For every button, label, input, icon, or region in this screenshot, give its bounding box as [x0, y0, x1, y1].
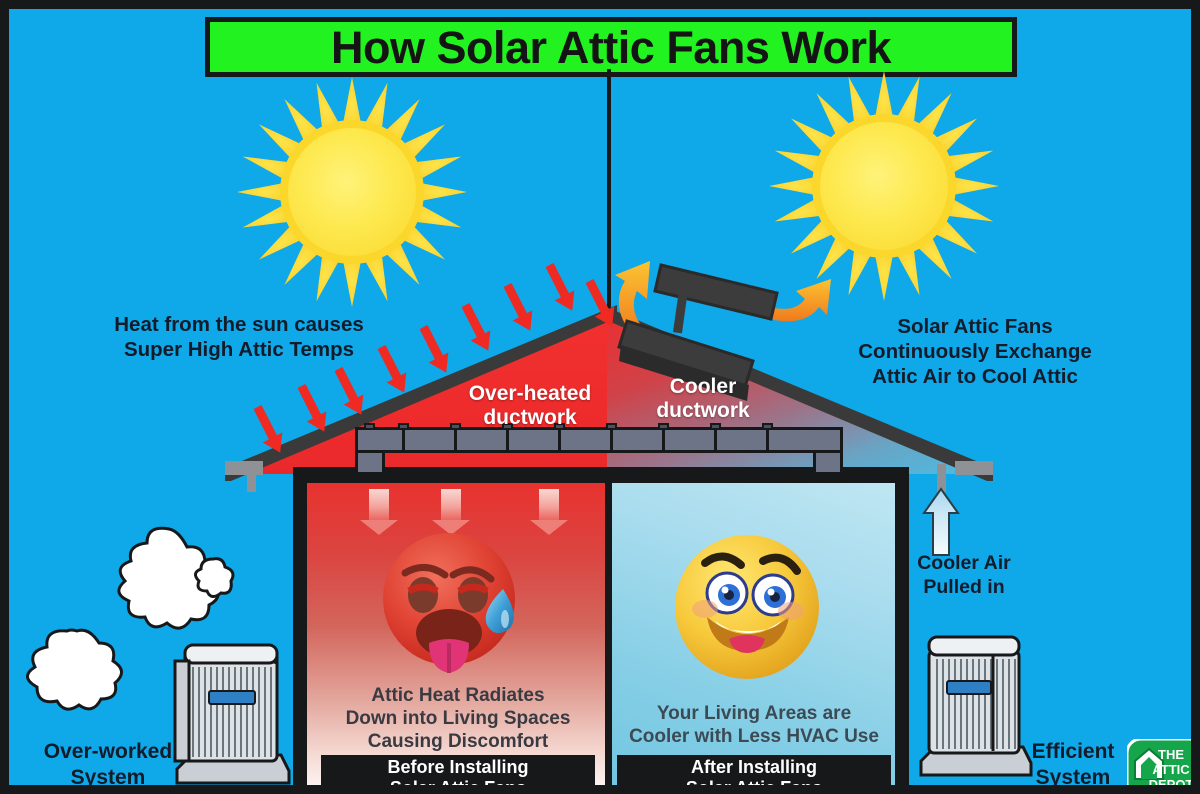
overworked-system-label: Over-worked System	[19, 739, 197, 790]
after-banner-line-2: Solar Attic Fans	[686, 778, 822, 794]
radiating-heat-arrow-icon	[441, 489, 461, 521]
red-down-arrow-icon	[253, 405, 277, 441]
smiling-face-emoji	[671, 531, 823, 688]
left-panel-caption: Attic Heat Radiates Down into Living Spa…	[327, 685, 589, 753]
red-down-arrow-icon	[334, 367, 358, 403]
left-headline-line-2: Super High Attic Temps	[67, 337, 411, 362]
after-banner-line-1: After Installing	[691, 757, 817, 777]
red-down-arrow-icon	[297, 384, 321, 420]
efficient-label-line-2: System	[1009, 765, 1137, 791]
overworked-label-line-2: System	[19, 765, 197, 791]
before-banner-line-2: Solar Attic Fans	[390, 778, 526, 794]
radiating-heat-arrow-icon	[539, 489, 559, 521]
left-headline-line-1: Heat from the sun causes	[67, 312, 411, 337]
before-banner-line-1: Before Installing	[387, 757, 528, 777]
cooler-ductwork-label: Cooler ductwork	[623, 375, 783, 422]
left-caption-line-3: Causing Discomfort	[327, 731, 589, 754]
right-caption-line-1: Your Living Areas are	[623, 703, 885, 726]
red-down-arrow-icon	[545, 263, 569, 299]
left-caption-line-1: Attic Heat Radiates	[327, 685, 589, 708]
smoke-cloud-icon	[19, 609, 159, 744]
radiating-heat-arrow-icon	[369, 489, 389, 521]
efficient-label-line-1: Efficient	[1009, 739, 1137, 765]
attic-depot-logo[interactable]: THE ATTIC DEPOT	[1127, 739, 1200, 794]
after-installing-banner: After Installing Solar Attic Fans	[617, 755, 891, 794]
logo-line-1: THE	[1158, 747, 1184, 762]
left-headline: Heat from the sun causes Super High Atti…	[67, 312, 411, 362]
cooler-air-label-line-1: Cooler Air	[889, 552, 1039, 576]
infographic-canvas: How Solar Attic Fans Work	[0, 0, 1200, 794]
overheated-ductwork-label-line-2: ductwork	[437, 406, 623, 430]
cooler-ductwork-label-line-1: Cooler	[623, 375, 783, 399]
hot-face-emoji	[381, 527, 529, 684]
right-headline-line-1: Solar Attic Fans	[831, 314, 1119, 339]
left-caption-line-2: Down into Living Spaces	[327, 708, 589, 731]
cooler-air-label-line-2: Pulled in	[889, 576, 1039, 600]
logo-line-3: DEPOT	[1149, 777, 1194, 792]
right-headline: Solar Attic Fans Continuously Exchange A…	[831, 314, 1119, 389]
overheated-ductwork-label: Over-heated ductwork	[437, 382, 623, 429]
blue-up-arrow-icon	[921, 487, 961, 562]
red-down-arrow-icon	[419, 325, 443, 361]
cooler-air-intake-label: Cooler Air Pulled in	[889, 552, 1039, 600]
right-headline-line-3: Attic Air to Cool Attic	[831, 364, 1119, 389]
right-headline-line-2: Continuously Exchange	[831, 339, 1119, 364]
before-installing-banner: Before Installing Solar Attic Fans	[321, 755, 595, 794]
overheated-ductwork-label-line-1: Over-heated	[437, 382, 623, 406]
efficient-system-label: Efficient System	[1009, 739, 1137, 790]
red-down-arrow-icon	[585, 279, 609, 315]
overworked-label-line-1: Over-worked	[19, 739, 197, 765]
logo-line-2: ATTIC	[1152, 762, 1190, 777]
cooler-ductwork-label-line-2: ductwork	[623, 399, 783, 423]
red-down-arrow-icon	[503, 283, 527, 319]
right-panel-caption: Your Living Areas are Cooler with Less H…	[623, 703, 885, 749]
right-caption-line-2: Cooler with Less HVAC Use	[623, 726, 885, 749]
red-down-arrow-icon	[461, 303, 485, 339]
